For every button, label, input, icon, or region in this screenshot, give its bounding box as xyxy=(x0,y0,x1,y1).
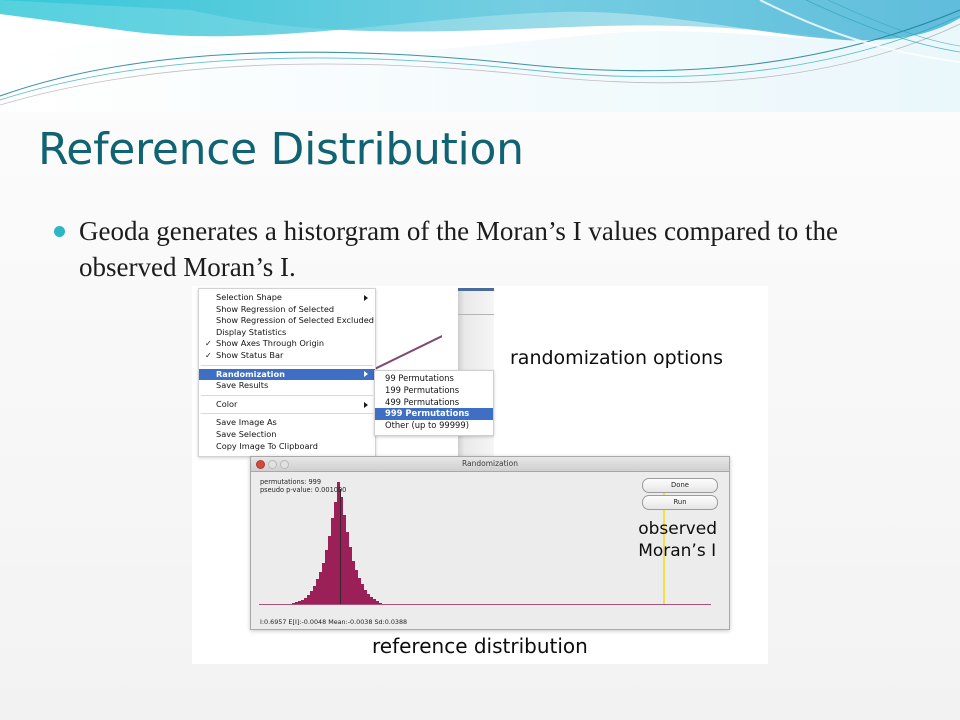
menu-item-color[interactable]: Color xyxy=(199,399,375,411)
presentation-slide: Reference Distribution Geoda generates a… xyxy=(0,0,960,720)
menu-item-label: Save Results xyxy=(216,380,268,390)
submenu-item-label: 999 Permutations xyxy=(385,408,469,418)
menu-item-label: Save Selection xyxy=(216,429,276,439)
dialog-title-bar[interactable]: Randomization xyxy=(251,457,729,472)
callout-observed-line2: Moran’s I xyxy=(638,540,717,562)
menu-item-label: Copy Image To Clipboard xyxy=(216,441,318,451)
menu-item-save-results[interactable]: Save Results xyxy=(199,380,375,392)
menu-item-show-regression-of-selected-excluded[interactable]: Show Regression of Selected Excluded xyxy=(199,315,375,327)
submenu-item-99-permutations[interactable]: 99 Permutations xyxy=(375,373,493,385)
menu-item-label: Show Axes Through Origin xyxy=(216,338,324,348)
menu-item-show-axes-through-origin[interactable]: Show Axes Through Origin xyxy=(199,338,375,350)
submenu-item-label: 499 Permutations xyxy=(385,397,459,407)
chevron-right-icon xyxy=(364,402,368,408)
callout-reference-distribution: reference distribution xyxy=(372,634,588,658)
menu-item-label: Show Regression of Selected xyxy=(216,304,334,314)
menu-item-save-selection[interactable]: Save Selection xyxy=(199,429,375,441)
callout-observed-moran-i: observed Moran’s I xyxy=(638,518,717,562)
permutation-mean-line xyxy=(340,489,341,604)
bullet-text: Geoda generates a historgram of the Mora… xyxy=(79,213,869,285)
submenu-item-label: 199 Permutations xyxy=(385,385,459,395)
submenu-item-999-permutations[interactable]: 999 Permutations xyxy=(375,408,493,420)
chevron-right-icon xyxy=(364,295,368,301)
status-bar: I:0.6957 E[I]:-0.0048 Mean:-0.0038 Sd:0.… xyxy=(260,618,407,626)
window-divider xyxy=(458,314,494,315)
embedded-screenshot: Selection Shape Show Regression of Selec… xyxy=(192,286,768,664)
menu-separator xyxy=(201,395,373,396)
menu-item-label: Save Image As xyxy=(216,417,277,427)
decorative-wave-header xyxy=(0,0,960,112)
run-button[interactable]: Run xyxy=(642,495,718,510)
histogram-axis-line xyxy=(259,604,711,605)
menu-item-label: Display Statistics xyxy=(216,327,286,337)
menu-item-label: Selection Shape xyxy=(216,292,282,302)
menu-item-randomization[interactable]: Randomization xyxy=(199,369,375,381)
menu-item-show-regression-of-selected[interactable]: Show Regression of Selected xyxy=(199,304,375,316)
menu-item-label: Show Regression of Selected Excluded xyxy=(216,315,374,325)
page-title: Reference Distribution xyxy=(38,124,524,175)
menu-item-label: Randomization xyxy=(216,369,285,379)
randomization-submenu[interactable]: 99 Permutations 199 Permutations 499 Per… xyxy=(374,370,494,436)
bullet-dot-icon xyxy=(54,226,65,237)
submenu-item-199-permutations[interactable]: 199 Permutations xyxy=(375,385,493,397)
list-item: Geoda generates a historgram of the Mora… xyxy=(54,213,914,285)
randomization-dialog: Randomization permutations: 999 pseudo p… xyxy=(250,456,730,630)
submenu-item-label: 99 Permutations xyxy=(385,373,454,383)
submenu-item-other-permutations[interactable]: Other (up to 99999) xyxy=(375,420,493,432)
menu-item-selection-shape[interactable]: Selection Shape xyxy=(199,292,375,304)
submenu-item-label: Other (up to 99999) xyxy=(385,420,469,430)
pseudo-p-value: pseudo p-value: 0.001000 xyxy=(260,486,346,494)
callout-randomization-options: randomization options xyxy=(510,347,723,369)
menu-item-label: Show Status Bar xyxy=(216,350,283,360)
permutation-stats: permutations: 999 pseudo p-value: 0.0010… xyxy=(260,478,346,495)
geoda-context-menu[interactable]: Selection Shape Show Regression of Selec… xyxy=(198,288,376,457)
chevron-right-icon xyxy=(364,371,368,377)
dialog-body: permutations: 999 pseudo p-value: 0.0010… xyxy=(251,472,729,629)
dialog-title: Randomization xyxy=(251,457,729,471)
menu-item-show-status-bar[interactable]: Show Status Bar xyxy=(199,350,375,362)
submenu-item-499-permutations[interactable]: 499 Permutations xyxy=(375,397,493,409)
menu-item-copy-image-to-clipboard[interactable]: Copy Image To Clipboard xyxy=(199,441,375,453)
done-button[interactable]: Done xyxy=(642,478,718,493)
menu-separator xyxy=(201,413,373,414)
menu-item-display-statistics[interactable]: Display Statistics xyxy=(199,327,375,339)
callout-observed-line1: observed xyxy=(638,518,717,540)
menu-separator xyxy=(201,365,373,366)
menu-item-save-image-as[interactable]: Save Image As xyxy=(199,417,375,429)
permutations-count: permutations: 999 xyxy=(260,478,346,486)
slide-body: Geoda generates a historgram of the Mora… xyxy=(54,213,914,285)
menu-item-label: Color xyxy=(216,399,237,409)
